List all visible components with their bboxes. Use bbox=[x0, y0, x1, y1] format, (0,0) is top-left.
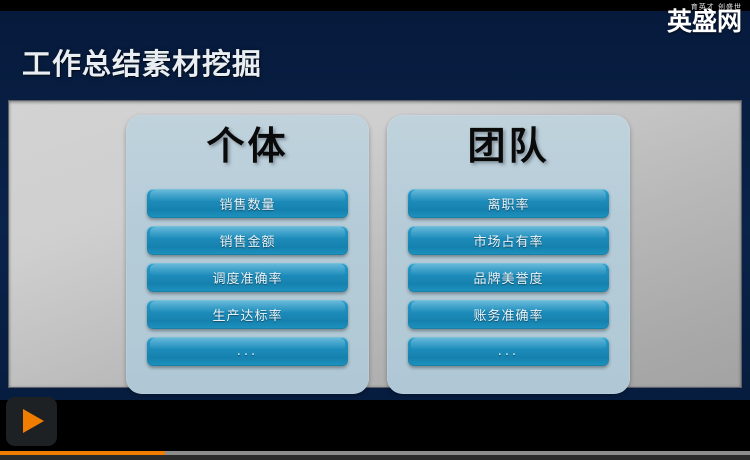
play-button[interactable] bbox=[6, 397, 57, 446]
list-item-label: 销售金额 bbox=[219, 231, 275, 250]
play-icon bbox=[23, 409, 44, 433]
slide-title: 工作总结素材挖掘 bbox=[22, 41, 262, 83]
card-individual: 个体 销售数量 销售金额 调度准确率 生产达标率 bbox=[126, 115, 369, 394]
card-individual-title: 个体 bbox=[126, 123, 369, 171]
list-item[interactable]: 品牌美誉度 bbox=[408, 263, 609, 292]
list-item-label: 账务准确率 bbox=[473, 305, 543, 324]
video-player: 工作总结素材挖掘 个体 销售数量 销售金额 调度准确率 bbox=[0, 0, 750, 460]
list-item-label: 销售数量 bbox=[219, 194, 275, 213]
list-item-label: 离职率 bbox=[487, 194, 529, 213]
list-item[interactable]: 市场占有率 bbox=[408, 226, 609, 255]
cards-container: 个体 销售数量 销售金额 调度准确率 生产达标率 bbox=[9, 101, 741, 387]
card-team-list: 离职率 市场占有率 品牌美誉度 账务准确率 ... bbox=[408, 189, 609, 374]
list-item-more[interactable]: ... bbox=[147, 337, 348, 366]
list-item[interactable]: 调度准确率 bbox=[147, 263, 348, 292]
list-item-label: 生产达标率 bbox=[212, 305, 282, 324]
list-item-label: ... bbox=[498, 344, 519, 359]
list-item-label: 调度准确率 bbox=[212, 268, 282, 287]
card-team-title: 团队 bbox=[387, 123, 630, 171]
list-item-label: ... bbox=[237, 344, 258, 359]
brand-logo: 育英才 创盛世 英盛网 bbox=[642, 0, 744, 42]
list-item[interactable]: 生产达标率 bbox=[147, 300, 348, 329]
list-item[interactable]: 离职率 bbox=[408, 189, 609, 218]
slide-content-board: 个体 销售数量 销售金额 调度准确率 生产达标率 bbox=[8, 100, 742, 388]
card-team: 团队 离职率 市场占有率 品牌美誉度 账务准确率 bbox=[387, 115, 630, 394]
brand-name: 英盛网 bbox=[667, 9, 742, 34]
list-item-label: 品牌美誉度 bbox=[473, 268, 543, 287]
slide-canvas: 工作总结素材挖掘 个体 销售数量 销售金额 调度准确率 bbox=[0, 11, 750, 400]
list-item[interactable]: 账务准确率 bbox=[408, 300, 609, 329]
card-individual-list: 销售数量 销售金额 调度准确率 生产达标率 ... bbox=[147, 189, 348, 374]
list-item-label: 市场占有率 bbox=[473, 231, 543, 250]
top-letterbox-bar bbox=[0, 0, 750, 11]
list-item-more[interactable]: ... bbox=[408, 337, 609, 366]
list-item[interactable]: 销售数量 bbox=[147, 189, 348, 218]
list-item[interactable]: 销售金额 bbox=[147, 226, 348, 255]
bottom-edge-shadow bbox=[0, 455, 750, 460]
